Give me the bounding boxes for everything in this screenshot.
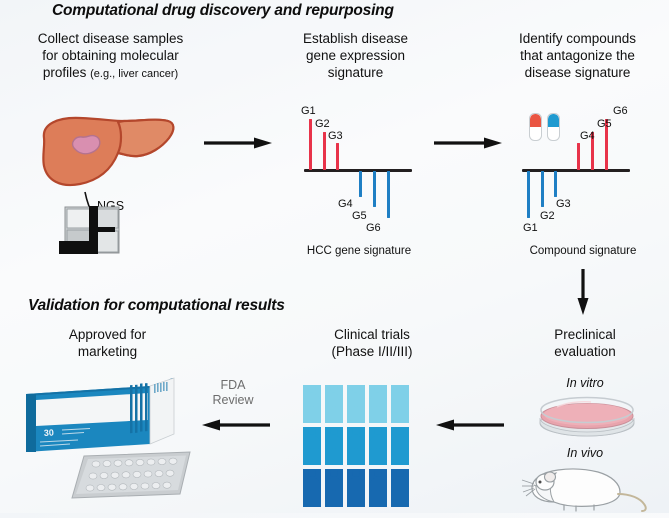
figure-canvas: Computational drug discovery and repurpo… bbox=[0, 0, 669, 513]
hcc-bar-G6 bbox=[387, 171, 390, 218]
hcc-chart-baseline bbox=[304, 169, 412, 172]
step3-heading-line2: that antagonize the bbox=[490, 47, 665, 64]
approved-heading-line1: Approved for bbox=[20, 326, 195, 343]
petri-dish-icon bbox=[535, 392, 639, 438]
section-title-validation: Validation for computational results bbox=[28, 297, 285, 315]
step1-heading-line1: Collect disease samples bbox=[8, 30, 213, 47]
clinical-trial-cohort bbox=[303, 385, 409, 507]
hcc-bar-G2 bbox=[323, 132, 326, 170]
person-icon bbox=[391, 385, 409, 423]
person-icon bbox=[391, 469, 409, 507]
hcc-label-G2: G2 bbox=[315, 118, 330, 130]
fda-review-label: FDA Review bbox=[193, 378, 273, 408]
step3-heading: Identify compounds that antagonize the d… bbox=[490, 30, 665, 81]
hcc-chart-caption: HCC gene signature bbox=[294, 245, 424, 257]
arrow-preclinical-trials[interactable] bbox=[432, 418, 506, 432]
hcc-bar-G1 bbox=[309, 119, 312, 170]
step1-heading-line2: for obtaining molecular bbox=[8, 47, 213, 64]
person-icon bbox=[369, 385, 387, 423]
hcc-bar-G4 bbox=[359, 171, 362, 197]
approved-heading: Approved for marketing bbox=[20, 326, 195, 360]
compound-bar-G2 bbox=[541, 171, 544, 207]
step2-heading: Establish disease gene expression signat… bbox=[268, 30, 443, 81]
step1-heading-line3: profiles (e.g., liver cancer) bbox=[8, 64, 213, 83]
compound-chart-baseline bbox=[522, 169, 630, 172]
sequencer-icon bbox=[51, 201, 133, 259]
compound-bar-G3 bbox=[554, 171, 557, 197]
step1-heading: Collect disease samples for obtaining mo… bbox=[8, 30, 213, 83]
arrow-step1-step2[interactable] bbox=[202, 136, 274, 150]
step2-heading-line3: signature bbox=[268, 64, 443, 81]
hcc-label-G5: G5 bbox=[352, 210, 367, 222]
approved-heading-line2: marketing bbox=[20, 343, 195, 360]
person-icon bbox=[369, 427, 387, 465]
preclinical-heading: Preclinical evaluation bbox=[505, 326, 665, 360]
section-title-computational: Computational drug discovery and repurpo… bbox=[52, 2, 394, 20]
step3-heading-line1: Identify compounds bbox=[490, 30, 665, 47]
person-icon bbox=[325, 427, 343, 465]
hcc-bar-G5 bbox=[373, 171, 376, 207]
in-vitro-label: In vitro bbox=[505, 376, 665, 390]
trials-heading: Clinical trials (Phase I/II/III) bbox=[292, 326, 452, 360]
medicine-box-icon: 30 bbox=[22, 372, 182, 462]
hcc-label-G1: G1 bbox=[301, 105, 316, 117]
arrow-trials-approved[interactable] bbox=[198, 418, 272, 432]
trials-heading-line1: Clinical trials bbox=[292, 326, 452, 343]
person-icon bbox=[347, 427, 365, 465]
in-vivo-label: In vivo bbox=[505, 446, 665, 460]
hcc-label-G6: G6 bbox=[366, 222, 381, 234]
person-icon bbox=[303, 427, 321, 465]
preclinical-heading-line1: Preclinical bbox=[505, 326, 665, 343]
person-icon bbox=[303, 385, 321, 423]
person-icon bbox=[303, 469, 321, 507]
liver-icon bbox=[18, 108, 178, 194]
step1-heading-note: (e.g., liver cancer) bbox=[90, 68, 178, 80]
step2-heading-line1: Establish disease bbox=[268, 30, 443, 47]
person-icon bbox=[347, 385, 365, 423]
person-icon bbox=[391, 427, 409, 465]
compound-label-G4: G4 bbox=[580, 130, 595, 142]
compound-label-G5: G5 bbox=[597, 118, 612, 130]
hcc-label-G3: G3 bbox=[328, 130, 343, 142]
compound-label-G2: G2 bbox=[540, 210, 555, 222]
fda-review-line1: FDA bbox=[193, 378, 273, 393]
person-icon bbox=[369, 469, 387, 507]
medicine-box-count: 30 bbox=[44, 427, 55, 438]
person-icon bbox=[325, 385, 343, 423]
trials-heading-line2: (Phase I/II/III) bbox=[292, 343, 452, 360]
fda-review-line2: Review bbox=[193, 393, 273, 408]
hcc-bar-G3 bbox=[336, 143, 339, 170]
arrow-step3-preclinical[interactable] bbox=[576, 268, 590, 316]
compound-label-G3: G3 bbox=[556, 198, 571, 210]
compound-signature-chart bbox=[518, 100, 638, 240]
person-icon bbox=[347, 469, 365, 507]
mouse-icon bbox=[520, 460, 655, 513]
step3-heading-line3: disease signature bbox=[490, 64, 665, 81]
preclinical-heading-line2: evaluation bbox=[505, 343, 665, 360]
step2-heading-line2: gene expression bbox=[268, 47, 443, 64]
compound-label-G1: G1 bbox=[523, 222, 538, 234]
compound-bar-G1 bbox=[527, 171, 530, 218]
cohort-row-phase2 bbox=[303, 427, 409, 465]
compound-chart-caption: Compound signature bbox=[513, 245, 653, 257]
compound-label-G6: G6 bbox=[613, 105, 628, 117]
person-icon bbox=[325, 469, 343, 507]
hcc-label-G4: G4 bbox=[338, 198, 353, 210]
compound-bar-G4 bbox=[577, 143, 580, 170]
cohort-row-phase3 bbox=[303, 469, 409, 507]
arrow-step2-step3[interactable] bbox=[432, 136, 504, 150]
cohort-row-phase1 bbox=[303, 385, 409, 423]
blister-pack-icon bbox=[70, 450, 195, 500]
